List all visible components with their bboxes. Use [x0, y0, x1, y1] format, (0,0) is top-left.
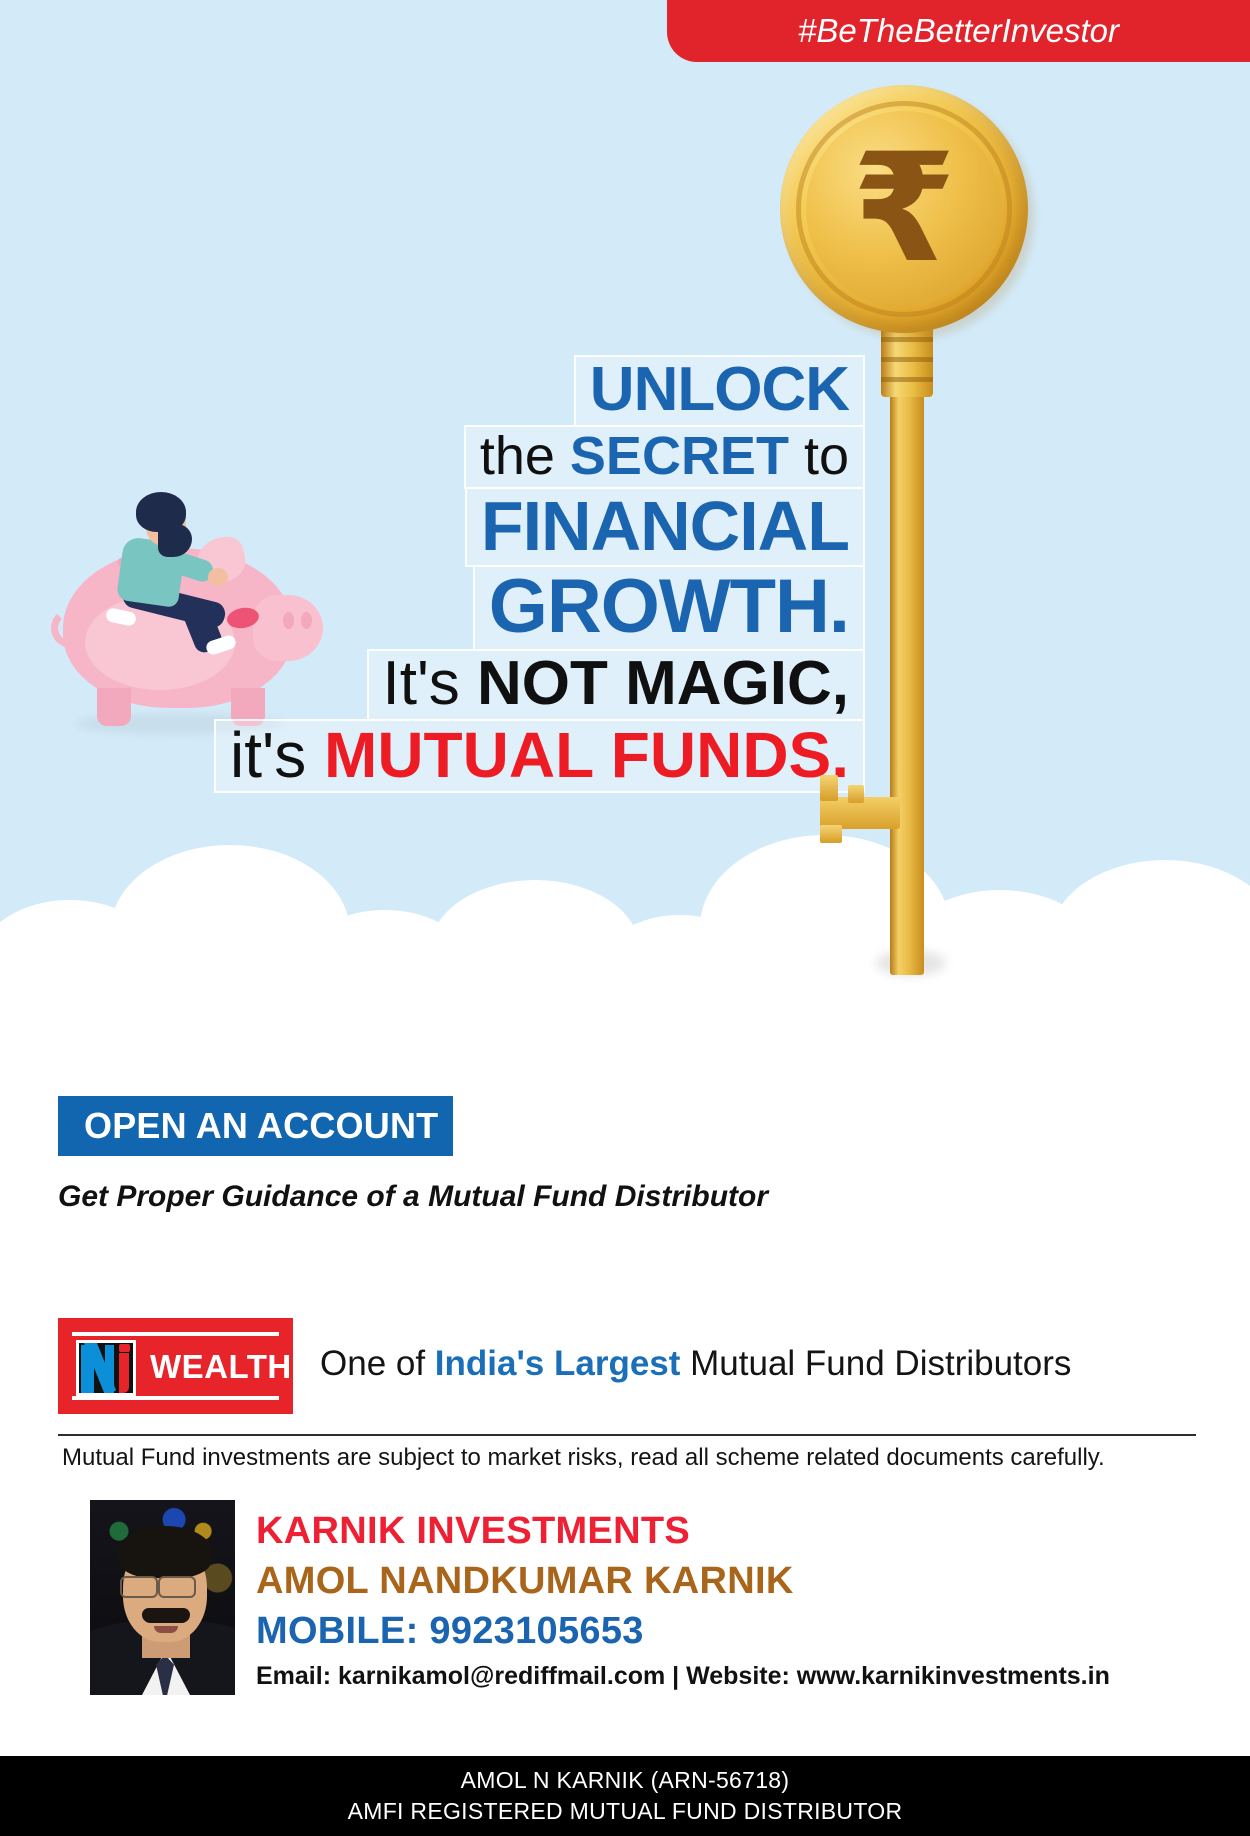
- key-tooth: [820, 775, 838, 801]
- contact-email-website[interactable]: Email: karnikamol@rediffmail.com | Websi…: [256, 1662, 1110, 1691]
- contact-firm-name: KARNIK INVESTMENTS: [256, 1510, 690, 1553]
- footer-arn-line: AMOL N KARNIK (ARN-56718): [461, 1767, 790, 1794]
- footer-bar: AMOL N KARNIK (ARN-56718) AMFI REGISTERE…: [0, 1756, 1250, 1836]
- disclaimer-divider: [58, 1434, 1196, 1436]
- footer-amfi-line: AMFI REGISTERED MUTUAL FUND DISTRIBUTOR: [348, 1798, 903, 1825]
- key-tooth: [820, 825, 842, 843]
- nj-wealth-label: WEALTH: [150, 1348, 292, 1386]
- distributor-photo: [90, 1500, 235, 1695]
- market-risk-disclaimer: Mutual Fund investments are subject to m…: [62, 1444, 1192, 1472]
- open-an-account-label: OPEN AN ACCOUNT: [84, 1105, 438, 1147]
- nj-logo-rule-bottom: [72, 1396, 279, 1400]
- nj-tagline-emph: India's Largest: [435, 1344, 681, 1383]
- hashtag-banner: #BeTheBetterInvestor: [667, 0, 1250, 62]
- headline-line-6-prefix: it's: [230, 719, 324, 791]
- contact-section: KARNIK INVESTMENTS AMOL NANDKUMAR KARNIK…: [0, 1498, 1250, 1756]
- headline-line-6-emph: MUTUAL FUNDS.: [324, 719, 849, 791]
- open-an-account-button[interactable]: OPEN AN ACCOUNT: [58, 1096, 453, 1156]
- nj-wealth-row: WEALTH One of India's Largest Mutual Fun…: [58, 1318, 1198, 1414]
- nj-monogram-icon: [76, 1340, 136, 1396]
- nj-tagline-suffix: Mutual Fund Distributors: [680, 1344, 1071, 1383]
- nj-tagline: One of India's Largest Mutual Fund Distr…: [320, 1344, 1071, 1384]
- nj-wealth-logo: WEALTH: [58, 1318, 293, 1414]
- nj-tagline-prefix: One of: [320, 1344, 435, 1383]
- headline-line-2-prefix: the: [480, 426, 570, 486]
- headline-line-2-emph: SECRET: [570, 426, 789, 486]
- hashtag-text: #BeTheBetterInvestor: [798, 12, 1119, 50]
- headline-line-6: it's MUTUAL FUNDS.: [214, 719, 865, 793]
- golden-key-graphic: ₹: [780, 85, 1050, 1005]
- poster-canvas: #BeTheBetterInvestor: [0, 0, 1250, 1836]
- cta-subtitle: Get Proper Guidance of a Mutual Fund Dis…: [58, 1180, 768, 1214]
- contact-mobile[interactable]: MOBILE: 9923105653: [256, 1610, 644, 1653]
- hero-section: #BeTheBetterInvestor: [0, 0, 1250, 1075]
- key-tooth: [848, 785, 864, 803]
- headline-stack: UNLOCK the SECRET to FINANCIAL GROWTH. I…: [0, 355, 865, 791]
- rupee-symbol-icon: ₹: [806, 111, 1002, 307]
- key-shaft: [890, 385, 924, 975]
- contact-person-name: AMOL NANDKUMAR KARNIK: [256, 1560, 794, 1603]
- cloud-band: [0, 825, 1250, 1075]
- headline-line-5-prefix: It's: [383, 649, 478, 718]
- nj-logo-rule-top: [72, 1332, 279, 1336]
